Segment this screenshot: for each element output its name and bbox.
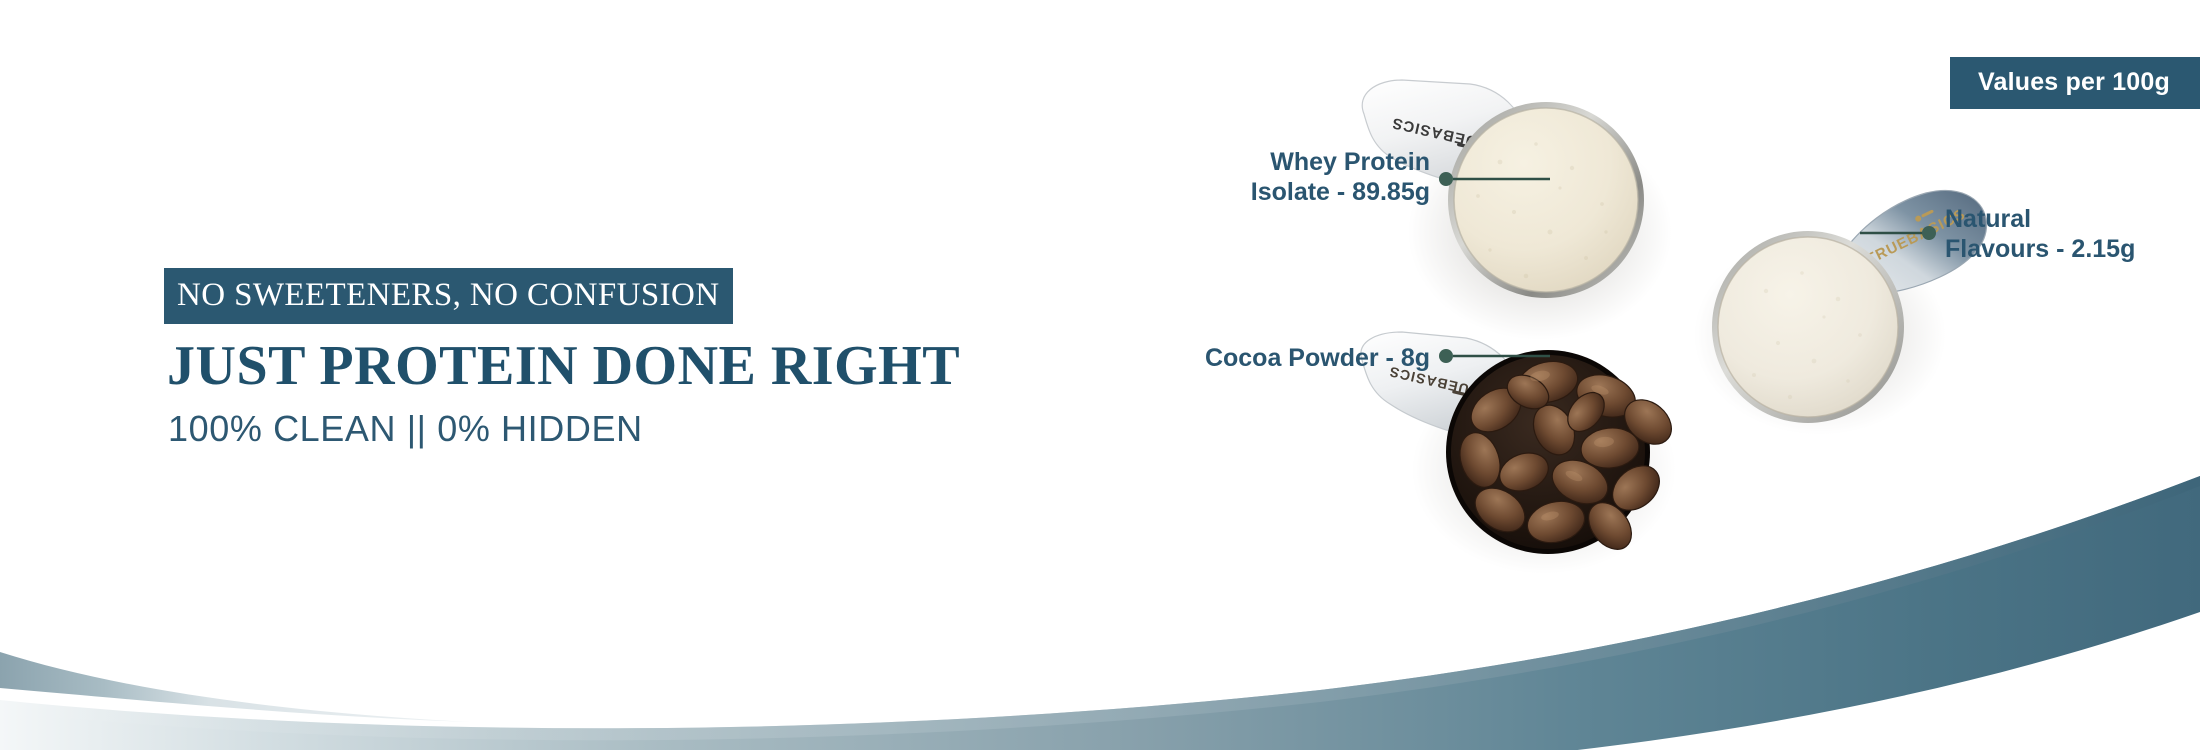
callout-line-2: Isolate - 89.85g [1000,178,1430,208]
subtitle: 100% CLEAN || 0% HIDDEN [164,411,984,447]
callout-cocoa-powder: Cocoa Powder - 8g [980,344,1430,374]
eyebrow-banner: NO SWEETENERS, NO CONFUSION [164,268,733,324]
headline-text-block: NO SWEETENERS, NO CONFUSION JUST PROTEIN… [164,268,984,447]
page-title: JUST PROTEIN DONE RIGHT [164,338,984,394]
callout-whey-protein-isolate: Whey Protein Isolate - 89.85g [1000,148,1430,207]
callout-line-1: Cocoa Powder - 8g [980,344,1430,374]
callout-natural-flavours: Natural Flavours - 2.15g [1945,205,2200,264]
values-per-100g-badge: Values per 100g [1950,57,2200,109]
callout-line-1: Natural [1945,205,2200,235]
callout-line-1: Whey Protein [1000,148,1430,178]
product-banner: Values per 100g NO SWEETENERS, NO CONFUS… [0,0,2200,750]
callout-line-2: Flavours - 2.15g [1945,235,2200,265]
